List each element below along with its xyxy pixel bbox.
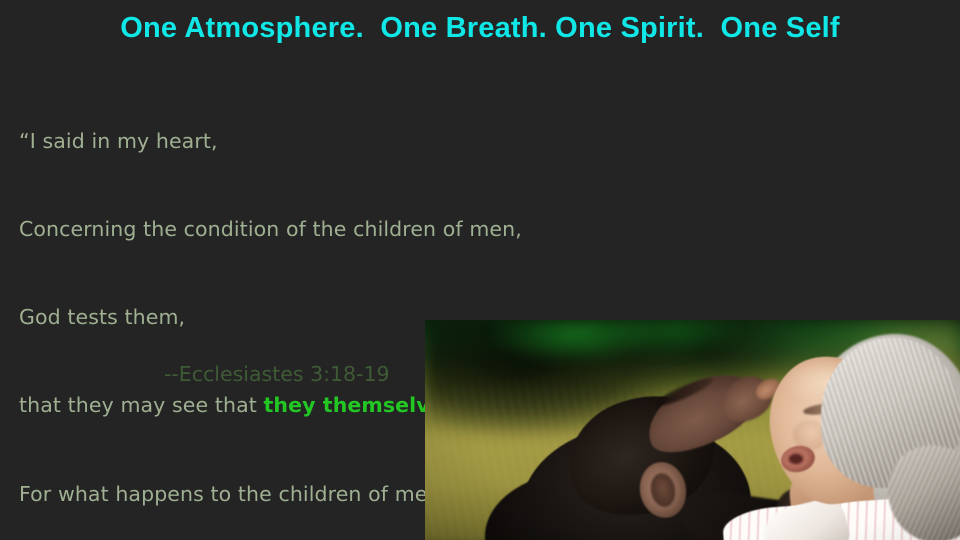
slide-title: One Atmosphere. One Breath. One Spirit. … xyxy=(0,12,960,45)
scripture-span-sage: God tests them, xyxy=(19,305,185,329)
scripture-span-sage: Concerning the condition of the children… xyxy=(19,217,522,241)
scripture-span-sage: “I said in my heart, xyxy=(19,129,218,153)
scripture-line: “I said in my heart, xyxy=(19,127,719,156)
scripture-line: Concerning the condition of the children… xyxy=(19,215,719,244)
woman-mouth-opening xyxy=(789,454,803,464)
goodall-chimpanzee-photo xyxy=(425,320,960,540)
scripture-span-sage: that they may see that xyxy=(19,393,264,417)
slide: One Atmosphere. One Breath. One Spirit. … xyxy=(0,0,960,540)
scripture-span-sage: For what happens to the children of men xyxy=(19,482,441,506)
